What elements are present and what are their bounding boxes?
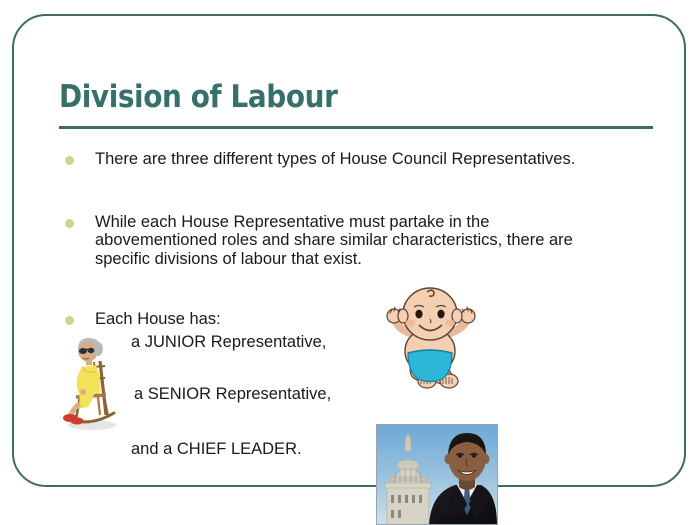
slide: Division of Labour There are three diffe… bbox=[0, 0, 700, 525]
baby-clipart-image bbox=[386, 285, 478, 392]
sub-line-junior: a JUNIOR Representative, bbox=[131, 333, 326, 352]
bullet-item-1: There are three different types of House… bbox=[65, 150, 585, 168]
bullet-text-2: While each House Representative must par… bbox=[95, 213, 595, 268]
sub-line-senior: a SENIOR Representative, bbox=[134, 385, 331, 404]
bullet-item-2: While each House Representative must par… bbox=[65, 213, 595, 268]
page-title: Division of Labour bbox=[59, 79, 337, 115]
bullet-dot-icon bbox=[65, 316, 74, 325]
leader-photo-image bbox=[376, 424, 498, 525]
elderly-woman-clipart-image bbox=[60, 331, 120, 431]
title-underline-rule bbox=[59, 126, 653, 129]
bullet-text-1: There are three different types of House… bbox=[95, 150, 585, 168]
sub-line-chief: and a CHIEF LEADER. bbox=[131, 440, 302, 459]
bullet-dot-icon bbox=[65, 156, 74, 165]
bullet-dot-icon bbox=[65, 219, 74, 228]
